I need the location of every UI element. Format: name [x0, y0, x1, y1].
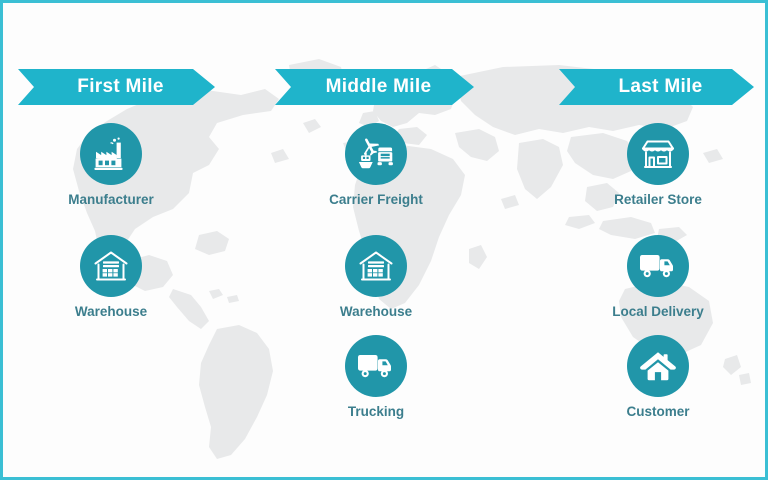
- node-label: Carrier Freight: [301, 192, 451, 207]
- factory-icon: [93, 137, 129, 171]
- stage-banner-label: First Mile: [69, 76, 163, 98]
- node-icon-circle: [80, 123, 142, 185]
- delivery-truck-icon: [639, 252, 677, 280]
- node-icon-circle: [345, 235, 407, 297]
- stage-banner-middle-mile[interactable]: Middle Mile: [275, 69, 474, 105]
- node-warehouse-middle-mile[interactable]: Warehouse: [301, 235, 451, 319]
- node-icon-circle: [345, 335, 407, 397]
- node-label: Customer: [583, 404, 733, 419]
- house-icon: [640, 350, 676, 382]
- node-icon-circle: [627, 235, 689, 297]
- warehouse-icon: [358, 250, 394, 282]
- stage-banner-label: Middle Mile: [318, 76, 432, 98]
- node-icon-circle: [627, 123, 689, 185]
- stage-banner-label: Last Mile: [611, 76, 703, 98]
- node-label: Warehouse: [301, 304, 451, 319]
- node-local-delivery[interactable]: Local Delivery: [583, 235, 733, 319]
- plane-ship-truck-icon: [357, 136, 395, 172]
- node-label: Warehouse: [36, 304, 186, 319]
- infographic-canvas: First Mile Middle Mile Last Mile: [0, 0, 768, 480]
- stage-banner-row: First Mile Middle Mile Last Mile: [3, 69, 768, 107]
- stage-banner-last-mile[interactable]: Last Mile: [559, 69, 754, 105]
- node-icon-circle: [345, 123, 407, 185]
- node-icon-circle: [627, 335, 689, 397]
- node-label: Trucking: [301, 404, 451, 419]
- node-manufacturer[interactable]: Manufacturer: [36, 123, 186, 207]
- warehouse-icon: [93, 250, 129, 282]
- node-icon-circle: [80, 235, 142, 297]
- node-retailer-store[interactable]: Retailer Store: [583, 123, 733, 207]
- node-warehouse-first-mile[interactable]: Warehouse: [36, 235, 186, 319]
- node-carrier-freight[interactable]: Carrier Freight: [301, 123, 451, 207]
- delivery-truck-icon: [357, 352, 395, 380]
- storefront-icon: [640, 138, 676, 170]
- node-label: Manufacturer: [36, 192, 186, 207]
- node-customer[interactable]: Customer: [583, 335, 733, 419]
- node-label: Local Delivery: [583, 304, 733, 319]
- node-label: Retailer Store: [583, 192, 733, 207]
- node-trucking[interactable]: Trucking: [301, 335, 451, 419]
- stage-banner-first-mile[interactable]: First Mile: [18, 69, 215, 105]
